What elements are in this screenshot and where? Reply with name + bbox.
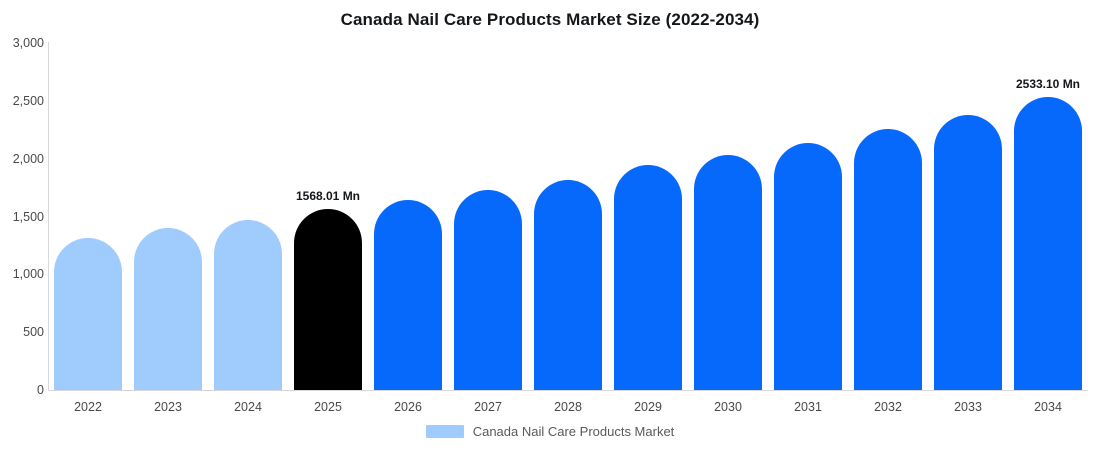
bar-2028[interactable] — [534, 180, 602, 390]
y-axis-tick-2000: 2,000 — [0, 152, 44, 166]
y-axis-tick-1500: 1,500 — [0, 210, 44, 224]
bar-fill-2029 — [614, 165, 682, 390]
bar-fill-2022 — [54, 238, 122, 390]
x-axis-tick-2026: 2026 — [374, 400, 442, 414]
x-axis-tick-2034: 2034 — [1014, 400, 1082, 414]
x-axis-line — [48, 390, 1088, 391]
legend-label-canada-nail-care-products-market: Canada Nail Care Products Market — [473, 424, 675, 439]
x-axis-tick-2029: 2029 — [614, 400, 682, 414]
y-axis-tick-500: 500 — [0, 325, 44, 339]
chart-legend: Canada Nail Care Products Market — [0, 424, 1100, 439]
bar-2024[interactable] — [214, 220, 282, 390]
bar-2026[interactable] — [374, 200, 442, 390]
chart-container: Canada Nail Care Products Market Size (2… — [0, 0, 1100, 450]
x-axis-tick-2028: 2028 — [534, 400, 602, 414]
x-axis-tick-2025: 2025 — [294, 400, 362, 414]
x-axis-tick-2027: 2027 — [454, 400, 522, 414]
bar-2030[interactable] — [694, 155, 762, 390]
bar-fill-2026 — [374, 200, 442, 390]
chart-title: Canada Nail Care Products Market Size (2… — [0, 10, 1100, 30]
bar-fill-2025 — [294, 209, 362, 390]
x-axis-tick-2023: 2023 — [134, 400, 202, 414]
y-axis-tick-2500: 2,500 — [0, 94, 44, 108]
bar-fill-2024 — [214, 220, 282, 390]
bar-fill-2034 — [1014, 97, 1082, 390]
bar-2022[interactable] — [54, 238, 122, 390]
x-axis-tick-2033: 2033 — [934, 400, 1002, 414]
x-axis-tick-2032: 2032 — [854, 400, 922, 414]
y-axis-tick-1000: 1,000 — [0, 267, 44, 281]
legend-swatch-canada-nail-care-products-market — [426, 425, 464, 438]
bar-fill-2033 — [934, 115, 1002, 390]
bar-2023[interactable] — [134, 228, 202, 390]
x-axis-tick-2031: 2031 — [774, 400, 842, 414]
bar-2033[interactable] — [934, 115, 1002, 390]
bar-value-label-2025: 1568.01 Mn — [296, 189, 360, 203]
y-axis-tick-3000: 3,000 — [0, 36, 44, 50]
bar-2032[interactable] — [854, 129, 922, 390]
x-axis-tick-2024: 2024 — [214, 400, 282, 414]
bar-fill-2032 — [854, 129, 922, 390]
x-axis-tick-2022: 2022 — [54, 400, 122, 414]
bar-fill-2027 — [454, 190, 522, 390]
bar-2029[interactable] — [614, 165, 682, 390]
y-axis-tick-0: 0 — [0, 383, 44, 397]
bar-2034[interactable]: 2533.10 Mn — [1014, 97, 1082, 390]
bar-fill-2031 — [774, 143, 842, 390]
bar-value-label-2034: 2533.10 Mn — [1016, 77, 1080, 91]
bar-fill-2030 — [694, 155, 762, 390]
x-axis-tick-2030: 2030 — [694, 400, 762, 414]
bar-fill-2023 — [134, 228, 202, 390]
bar-fill-2028 — [534, 180, 602, 390]
y-axis-tick-labels: 05001,0001,5002,0002,5003,000 — [0, 0, 44, 450]
bar-2025[interactable]: 1568.01 Mn — [294, 209, 362, 390]
bar-2031[interactable] — [774, 143, 842, 390]
bar-2027[interactable] — [454, 190, 522, 390]
